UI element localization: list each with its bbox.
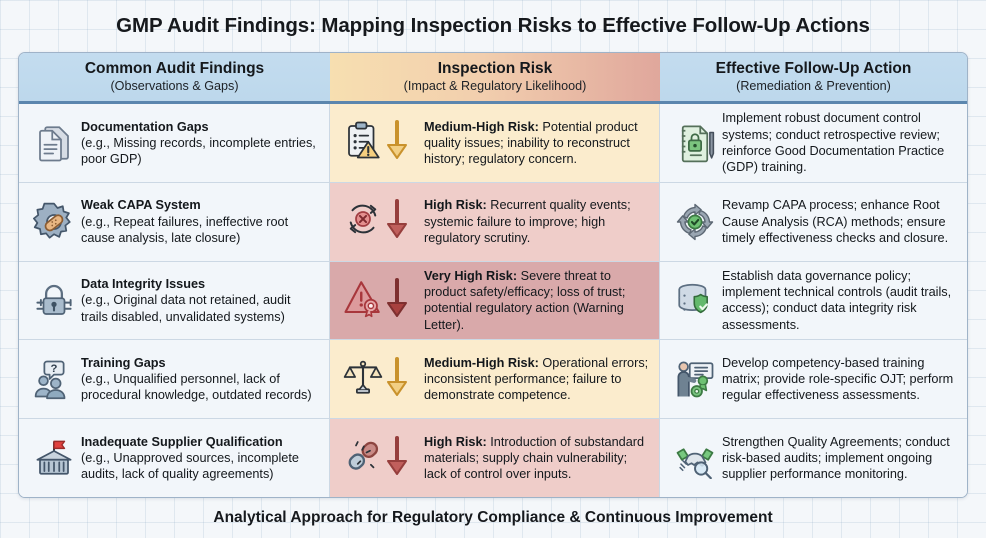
risk-text: Very High Risk: Severe threat to product… (424, 268, 651, 333)
action-cell: Implement robust document control system… (660, 104, 967, 182)
title-bar: GMP Audit Findings: Mapping Inspection R… (0, 0, 986, 52)
risk-level-label: High Risk: (424, 435, 487, 449)
risk-icon-group (338, 435, 424, 482)
risk-matrix-table: Common Audit Findings (Observations & Ga… (18, 52, 968, 498)
finding-text: Inadequate Supplier Qualification(e.g., … (81, 434, 321, 483)
column-header-risk: Inspection Risk (Impact & Regulatory Lik… (330, 53, 660, 101)
down-arrow-icon (384, 357, 408, 402)
finding-heading: Documentation Gaps (81, 119, 319, 135)
risk-icon-group (338, 277, 424, 324)
risk-cell: Medium-High Risk: Potential product qual… (330, 104, 660, 182)
risk-level-label: Medium-High Risk: (424, 356, 539, 370)
risk-text: Medium-High Risk: Potential product qual… (424, 119, 651, 168)
risk-cell: High Risk: Introduction of substandard m… (330, 419, 660, 497)
failed-cycle-icon (342, 198, 384, 245)
page-title: GMP Audit Findings: Mapping Inspection R… (116, 14, 870, 38)
svg-text:?: ? (51, 363, 58, 375)
risk-icon-group (338, 356, 424, 403)
finding-cell: Inadequate Supplier Qualification(e.g., … (19, 419, 330, 497)
clipboard-warning-icon (342, 119, 384, 166)
trainer-certificate-icon (668, 358, 722, 400)
footer-caption: Analytical Approach for Regulatory Compl… (213, 509, 772, 527)
action-cell: Establish data governance policy; implem… (660, 262, 967, 340)
action-detail: Implement robust document control system… (722, 110, 959, 175)
finding-cell: ?Training Gaps(e.g., Unqualified personn… (19, 340, 330, 418)
data-lock-icon (27, 279, 81, 321)
table-row: Documentation Gaps(e.g., Missing records… (19, 104, 967, 183)
risk-cell: Medium-High Risk: Operational errors; in… (330, 340, 660, 418)
locked-document-pen-icon (668, 122, 722, 164)
action-cell: Revamp CAPA process; enhance Root Cause … (660, 183, 967, 261)
action-detail: Establish data governance policy; implem… (722, 268, 959, 333)
finding-heading: Data Integrity Issues (81, 276, 319, 292)
people-question-icon: ? (27, 358, 81, 400)
risk-text: High Risk: Recurrent quality events; sys… (424, 197, 651, 246)
column-header-action: Effective Follow-Up Action (Remediation … (660, 53, 967, 101)
down-arrow-icon (384, 436, 408, 481)
risk-icon-group (338, 119, 424, 166)
finding-text: Weak CAPA System(e.g., Repeat failures, … (81, 197, 321, 246)
finding-text: Data Integrity Issues(e.g., Original dat… (81, 276, 321, 325)
risk-icon-group (338, 198, 424, 245)
finding-detail: (e.g., Original data not retained, audit… (81, 293, 290, 323)
risk-cell: High Risk: Recurrent quality events; sys… (330, 183, 660, 261)
column-header-findings: Common Audit Findings (Observations & Ga… (19, 53, 330, 101)
action-detail: Develop competency-based training matrix… (722, 355, 959, 404)
action-cell: Strengthen Quality Agreements; conduct r… (660, 419, 967, 497)
risk-text: Medium-High Risk: Operational errors; in… (424, 355, 651, 404)
table-body: Documentation Gaps(e.g., Missing records… (19, 104, 967, 497)
balance-scale-icon (342, 356, 384, 403)
down-arrow-icon (384, 199, 408, 244)
finding-text: Training Gaps(e.g., Unqualified personne… (81, 355, 321, 404)
finding-detail: (e.g., Repeat failures, ineffective root… (81, 215, 288, 245)
action-cell: Develop competency-based training matrix… (660, 340, 967, 418)
finding-cell: Documentation Gaps(e.g., Missing records… (19, 104, 330, 182)
footer-bar: Analytical Approach for Regulatory Compl… (0, 498, 986, 538)
column-header-risk-title: Inspection Risk (438, 60, 553, 78)
cycle-check-icon (668, 201, 722, 243)
risk-text: High Risk: Introduction of substandard m… (424, 434, 651, 483)
table-row: Inadequate Supplier Qualification(e.g., … (19, 419, 967, 497)
handshake-magnifier-icon (668, 437, 722, 479)
column-header-risk-subtitle: (Impact & Regulatory Likelihood) (404, 79, 587, 94)
down-arrow-icon (384, 278, 408, 323)
finding-heading: Inadequate Supplier Qualification (81, 434, 319, 450)
finding-detail: (e.g., Missing records, incomplete entri… (81, 136, 316, 166)
infographic-page: GMP Audit Findings: Mapping Inspection R… (0, 0, 986, 538)
warning-seal-icon (342, 277, 384, 324)
risk-level-label: Medium-High Risk: (424, 120, 539, 134)
risk-cell: Very High Risk: Severe threat to product… (330, 262, 660, 340)
column-header-action-title: Effective Follow-Up Action (716, 60, 912, 78)
finding-text: Documentation Gaps(e.g., Missing records… (81, 119, 321, 168)
column-header-findings-subtitle: (Observations & Gaps) (110, 79, 238, 94)
table-header-row: Common Audit Findings (Observations & Ga… (19, 53, 967, 104)
column-header-findings-title: Common Audit Findings (85, 60, 264, 78)
action-detail: Strengthen Quality Agreements; conduct r… (722, 434, 959, 483)
documents-icon (27, 122, 81, 164)
gear-bandage-icon (27, 201, 81, 243)
table-row: ?Training Gaps(e.g., Unqualified personn… (19, 340, 967, 419)
broken-chain-icon (342, 435, 384, 482)
finding-detail: (e.g., Unqualified personnel, lack of pr… (81, 372, 312, 402)
finding-heading: Training Gaps (81, 355, 319, 371)
table-row: Data Integrity Issues(e.g., Original dat… (19, 262, 967, 341)
table-row: Weak CAPA System(e.g., Repeat failures, … (19, 183, 967, 262)
down-arrow-icon (384, 120, 408, 165)
action-detail: Revamp CAPA process; enhance Root Cause … (722, 197, 959, 246)
factory-flag-icon (27, 437, 81, 479)
finding-cell: Data Integrity Issues(e.g., Original dat… (19, 262, 330, 340)
finding-cell: Weak CAPA System(e.g., Repeat failures, … (19, 183, 330, 261)
column-header-action-subtitle: (Remediation & Prevention) (736, 79, 891, 94)
risk-level-label: High Risk: (424, 198, 487, 212)
risk-level-label: Very High Risk: (424, 269, 517, 283)
database-shield-icon (668, 279, 722, 321)
finding-detail: (e.g., Unapproved sources, incomplete au… (81, 451, 299, 481)
finding-heading: Weak CAPA System (81, 197, 319, 213)
